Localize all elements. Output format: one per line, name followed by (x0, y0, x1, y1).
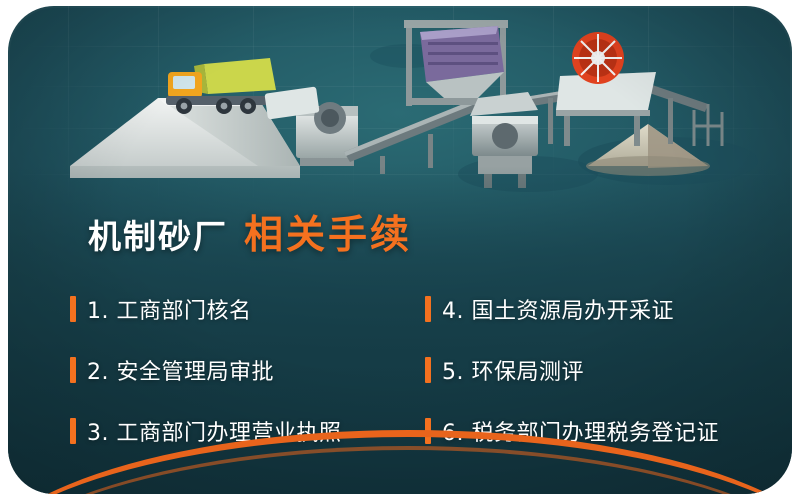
poster-root: 机制砂厂 相关手续 1. 工商部门核名 4. 国土资源局办开采证 2. 安全管理… (0, 0, 800, 500)
list-item-label: 4. 国土资源局办开采证 (442, 293, 674, 325)
bullet-bar-icon (70, 296, 76, 322)
belt-conveyor-icon (344, 98, 484, 174)
list-item-label: 5. 环保局测评 (442, 354, 584, 386)
bullet-bar-icon (425, 296, 431, 322)
poster-card: 机制砂厂 相关手续 1. 工商部门核名 4. 国土资源局办开采证 2. 安全管理… (8, 6, 792, 494)
title-prefix: 机制砂厂 (88, 210, 228, 258)
dump-truck-icon (166, 58, 280, 114)
list-item: 5. 环保局测评 (425, 354, 760, 386)
list-item-label: 2. 安全管理局审批 (87, 354, 274, 386)
title-emphasis: 相关手续 (244, 204, 412, 260)
bullet-bar-icon (70, 357, 76, 383)
sand-washing-machine-icon (556, 32, 656, 146)
list-item-label: 1. 工商部门核名 (87, 293, 251, 325)
bullet-bar-icon (425, 357, 431, 383)
list-item: 4. 国土资源局办开采证 (425, 293, 760, 325)
list-item: 1. 工商部门核名 (70, 293, 425, 325)
page-title: 机制砂厂 相关手续 (88, 204, 412, 260)
bullet-bar-icon (70, 418, 76, 444)
list-item: 2. 安全管理局审批 (70, 354, 425, 386)
